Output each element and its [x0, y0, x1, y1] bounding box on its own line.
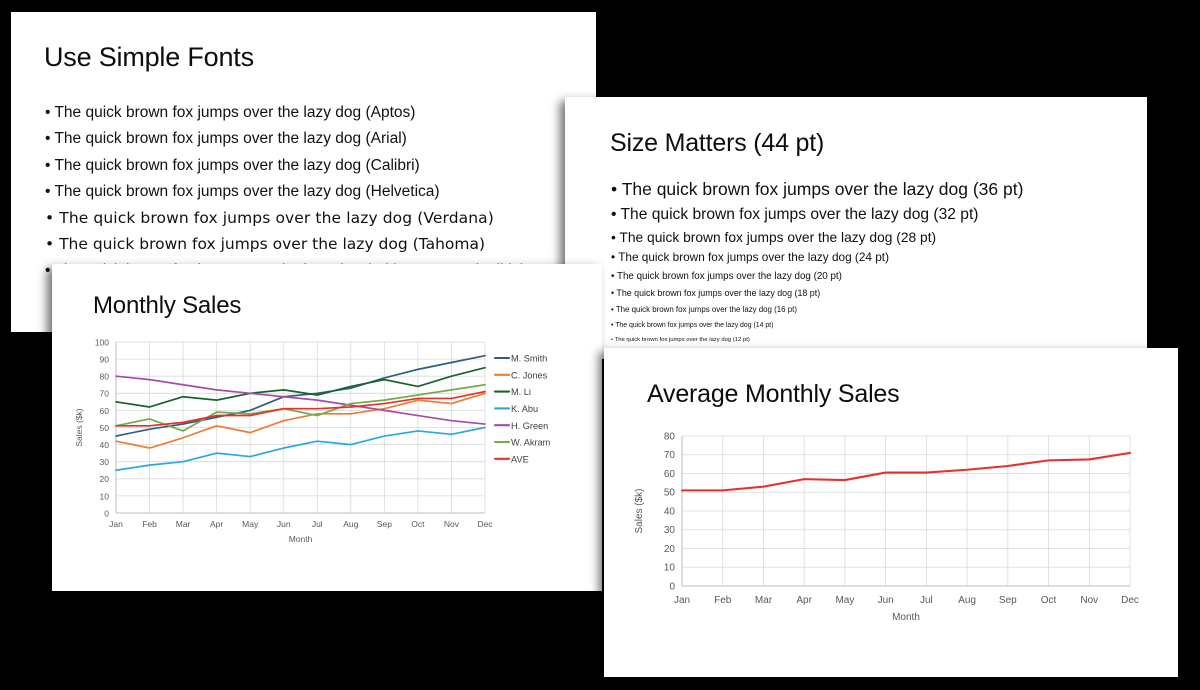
- y-tick-label: 0: [104, 508, 109, 518]
- y-tick-label: 40: [664, 506, 676, 517]
- x-tick-label: Feb: [142, 519, 157, 529]
- legend-label: H. Green: [511, 421, 548, 431]
- slide-monthly-sales[interactable]: Monthly Sales 0102030405060708090100JanF…: [52, 264, 602, 591]
- y-tick-label: 0: [669, 581, 675, 592]
- x-tick-label: May: [242, 519, 259, 529]
- list-item: The quick brown fox jumps over the lazy …: [45, 130, 588, 148]
- list-item: The quick brown fox jumps over the lazy …: [45, 209, 588, 227]
- y-tick-label: 100: [95, 337, 109, 347]
- list-item: The quick brown fox jumps over the lazy …: [45, 104, 588, 122]
- y-tick-label: 30: [664, 525, 676, 536]
- list-item: The quick brown fox jumps over the lazy …: [45, 157, 588, 175]
- x-tick-label: Aug: [958, 595, 976, 606]
- x-tick-label: Jan: [674, 595, 690, 606]
- y-tick-label: 70: [100, 389, 110, 399]
- y-tick-label: 10: [664, 563, 676, 574]
- y-axis-title: Sales ($k): [74, 408, 84, 446]
- legend-label: K. Abu: [511, 404, 538, 414]
- x-tick-label: Jun: [277, 519, 291, 529]
- y-tick-label: 20: [664, 544, 676, 555]
- x-tick-label: Apr: [796, 595, 812, 606]
- y-tick-label: 20: [100, 474, 110, 484]
- x-tick-label: Jul: [312, 519, 323, 529]
- monthly-sales-plot: 0102030405060708090100JanFebMarAprMayJun…: [70, 336, 580, 551]
- x-tick-label: Dec: [1121, 595, 1139, 606]
- series-line-c-jones: [116, 393, 485, 448]
- legend-label: AVE: [511, 454, 529, 464]
- monthly-sales-chart: 0102030405060708090100JanFebMarAprMayJun…: [70, 336, 580, 551]
- y-tick-label: 60: [100, 406, 110, 416]
- y-tick-label: 10: [100, 491, 110, 501]
- presentation-stage: Use Simple Fonts The quick brown fox jum…: [0, 0, 1200, 690]
- y-axis-title: Sales ($k): [634, 488, 645, 533]
- slide-size-matters[interactable]: Size Matters (44 pt) The quick brown fox…: [565, 97, 1147, 359]
- size-sample-list: The quick brown fox jumps over the lazy …: [611, 177, 1023, 347]
- x-tick-label: May: [835, 595, 854, 606]
- list-item: The quick brown fox jumps over the lazy …: [611, 268, 1023, 285]
- list-item: The quick brown fox jumps over the lazy …: [611, 227, 1023, 249]
- series-line-ave: [682, 453, 1130, 491]
- x-tick-label: Oct: [411, 519, 425, 529]
- slide-title: Monthly Sales: [93, 292, 241, 320]
- slide-title: Average Monthly Sales: [647, 380, 899, 409]
- x-tick-label: Aug: [343, 519, 358, 529]
- list-item: The quick brown fox jumps over the lazy …: [611, 302, 1023, 318]
- y-tick-label: 60: [664, 469, 676, 480]
- list-item: The quick brown fox jumps over the lazy …: [611, 285, 1023, 302]
- legend-label: M. Smith: [511, 354, 547, 364]
- x-axis-title: Month: [892, 612, 920, 623]
- legend-label: W. Akram: [511, 438, 551, 448]
- x-tick-label: Mar: [176, 519, 191, 529]
- list-item: The quick brown fox jumps over the lazy …: [611, 203, 1023, 227]
- font-sample-list: The quick brown fox jumps over the lazy …: [45, 104, 588, 288]
- series-line-ave: [116, 392, 485, 426]
- x-tick-label: Apr: [210, 519, 223, 529]
- x-tick-label: Jun: [878, 595, 894, 606]
- average-monthly-sales-plot: 01020304050607080JanFebMarAprMayJunJulAu…: [626, 428, 1146, 628]
- y-tick-label: 80: [100, 372, 110, 382]
- slide-title: Size Matters (44 pt): [610, 129, 824, 158]
- x-tick-label: Nov: [1080, 595, 1098, 606]
- series-line-k-abu: [116, 428, 485, 471]
- legend-label: M. Li: [511, 387, 531, 397]
- x-tick-label: Oct: [1041, 595, 1057, 606]
- x-tick-label: Mar: [755, 595, 773, 606]
- legend-label: C. Jones: [511, 370, 548, 380]
- list-item: The quick brown fox jumps over the lazy …: [611, 177, 1023, 203]
- x-axis-title: Month: [289, 534, 313, 544]
- list-item: The quick brown fox jumps over the lazy …: [611, 333, 1023, 347]
- x-tick-label: Sep: [377, 519, 392, 529]
- slide-average-monthly-sales[interactable]: Average Monthly Sales 01020304050607080J…: [604, 348, 1178, 677]
- x-tick-label: Dec: [477, 519, 493, 529]
- average-monthly-sales-chart: 01020304050607080JanFebMarAprMayJunJulAu…: [626, 428, 1146, 628]
- y-tick-label: 40: [100, 440, 110, 450]
- y-tick-label: 70: [664, 450, 676, 461]
- x-tick-label: Sep: [999, 595, 1017, 606]
- slide-title: Use Simple Fonts: [44, 42, 254, 73]
- list-item: The quick brown fox jumps over the lazy …: [611, 318, 1023, 333]
- x-tick-label: Jan: [109, 519, 123, 529]
- y-tick-label: 50: [664, 488, 676, 499]
- x-tick-label: Nov: [444, 519, 460, 529]
- y-tick-label: 90: [100, 355, 110, 365]
- x-tick-label: Jul: [920, 595, 933, 606]
- y-tick-label: 50: [100, 423, 110, 433]
- list-item: The quick brown fox jumps over the lazy …: [45, 183, 588, 201]
- x-tick-label: Feb: [714, 595, 732, 606]
- list-item: The quick brown fox jumps over the lazy …: [45, 235, 588, 253]
- list-item: The quick brown fox jumps over the lazy …: [611, 248, 1023, 267]
- y-tick-label: 80: [664, 431, 676, 442]
- y-tick-label: 30: [100, 457, 110, 467]
